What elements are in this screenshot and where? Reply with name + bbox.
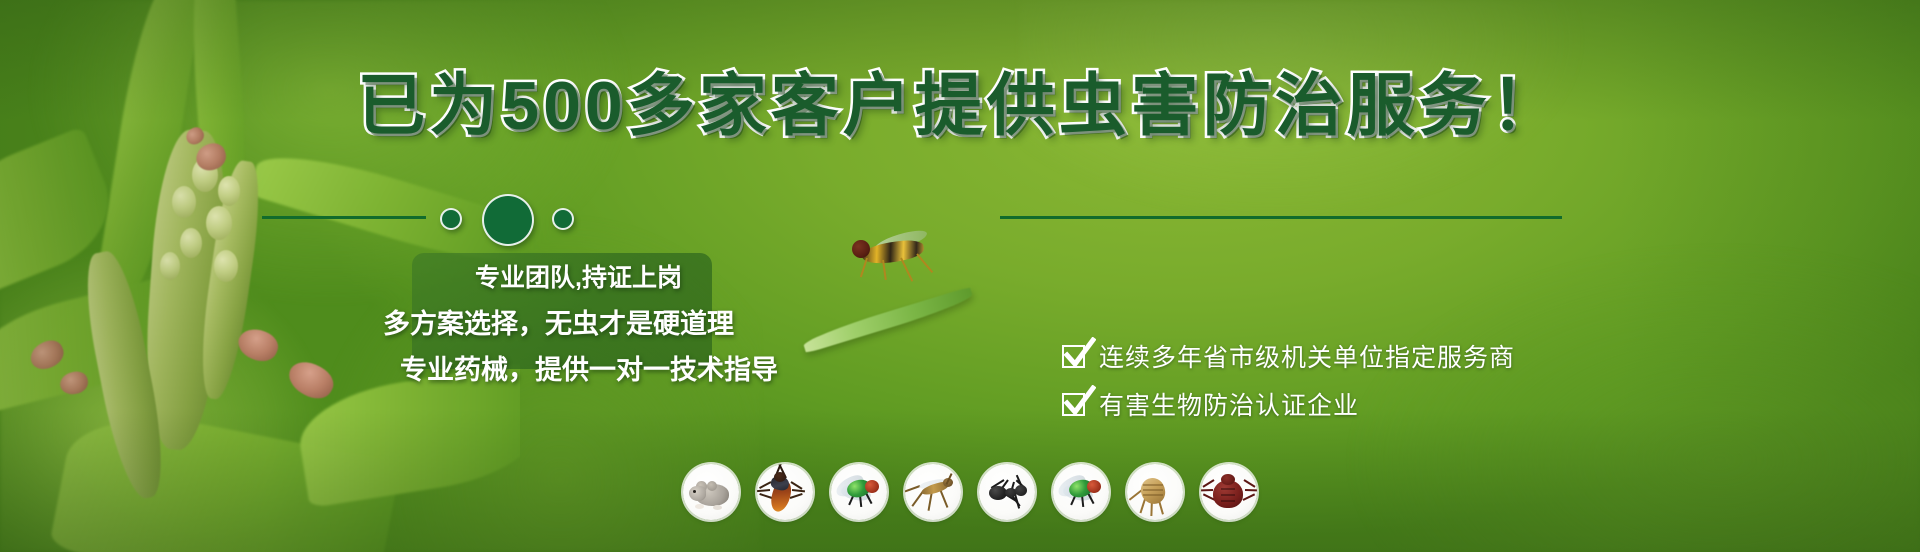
divider	[0, 196, 1920, 240]
flea-segment	[1143, 494, 1163, 496]
feature-panel-text: 专业团队,持证上岗 多方案选择，无虫才是硬道理 专业药械，提供一对一技术指导	[340, 255, 780, 393]
mouse-icon	[683, 464, 739, 520]
mouse-foot	[695, 504, 704, 509]
feature-line-3: 专业药械，提供一对一技术指导	[340, 347, 780, 393]
ant-head	[1015, 485, 1027, 496]
cockroach-icon	[757, 464, 813, 520]
checkbox-checked-icon	[1062, 393, 1085, 416]
ant-icon	[979, 464, 1035, 520]
checklist-item-label: 连续多年省市级机关单位指定服务商	[1099, 338, 1515, 374]
bedbug-leg	[1201, 489, 1213, 491]
bedbug-marking	[1221, 488, 1235, 490]
feature-line-1: 专业团队,持证上岗	[340, 255, 780, 301]
mouse-foot	[713, 505, 722, 510]
cockroach-leg	[792, 489, 805, 492]
mosquito-leg	[905, 485, 920, 492]
checkbox-checked-icon	[1062, 345, 1085, 368]
credentials-checklist: 连续多年省市级机关单位指定服务商 有害生物防治认证企业	[1062, 332, 1515, 428]
cockroach-leg	[757, 489, 770, 492]
mosquito-icon	[905, 464, 961, 520]
pest-icon-strip	[683, 464, 1257, 520]
bedbug-marking	[1221, 500, 1235, 502]
bedbug-leg	[1243, 479, 1255, 488]
bedbug-leg	[1202, 479, 1214, 488]
divider-large-dot	[482, 194, 534, 246]
divider-rule-left	[262, 216, 426, 219]
bedbug-leg	[1243, 493, 1256, 500]
fly-head	[1087, 480, 1101, 493]
green-bottle-fly-icon	[1053, 464, 1109, 520]
fly-icon	[831, 464, 887, 520]
flea-segment	[1143, 484, 1163, 486]
mouse-head	[689, 486, 706, 501]
checklist-item: 连续多年省市级机关单位指定服务商	[1062, 332, 1515, 380]
cockroach-head	[774, 472, 786, 482]
pest-control-hero-banner: 已为500多家客户提供虫害防治服务！ 专业团队,持证上岗 多方案选择，无虫才是硬…	[0, 0, 1920, 552]
checklist-item-label: 有害生物防治认证企业	[1099, 386, 1359, 422]
bedbug-head	[1221, 474, 1235, 485]
divider-small-dot-left	[440, 208, 462, 230]
divider-small-dot-right	[552, 208, 574, 230]
bedbug-marking	[1221, 494, 1235, 496]
divider-rule-right	[1000, 216, 1562, 219]
cockroach-leg	[759, 481, 771, 489]
bedbug-icon	[1201, 464, 1257, 520]
mosquito-leg	[939, 489, 948, 508]
flea-icon	[1127, 464, 1183, 520]
bedbug-leg	[1245, 489, 1257, 491]
mouse-ear	[707, 481, 717, 491]
feature-line-2: 多方案选择，无虫才是硬道理	[340, 301, 780, 347]
fly-head	[865, 480, 879, 493]
flea-segment	[1143, 489, 1163, 491]
mouse-eye	[693, 490, 696, 493]
checklist-item: 有害生物防治认证企业	[1062, 380, 1515, 428]
cockroach-leg	[790, 493, 803, 499]
page-title: 已为500多家客户提供虫害防治服务！	[0, 72, 1920, 140]
